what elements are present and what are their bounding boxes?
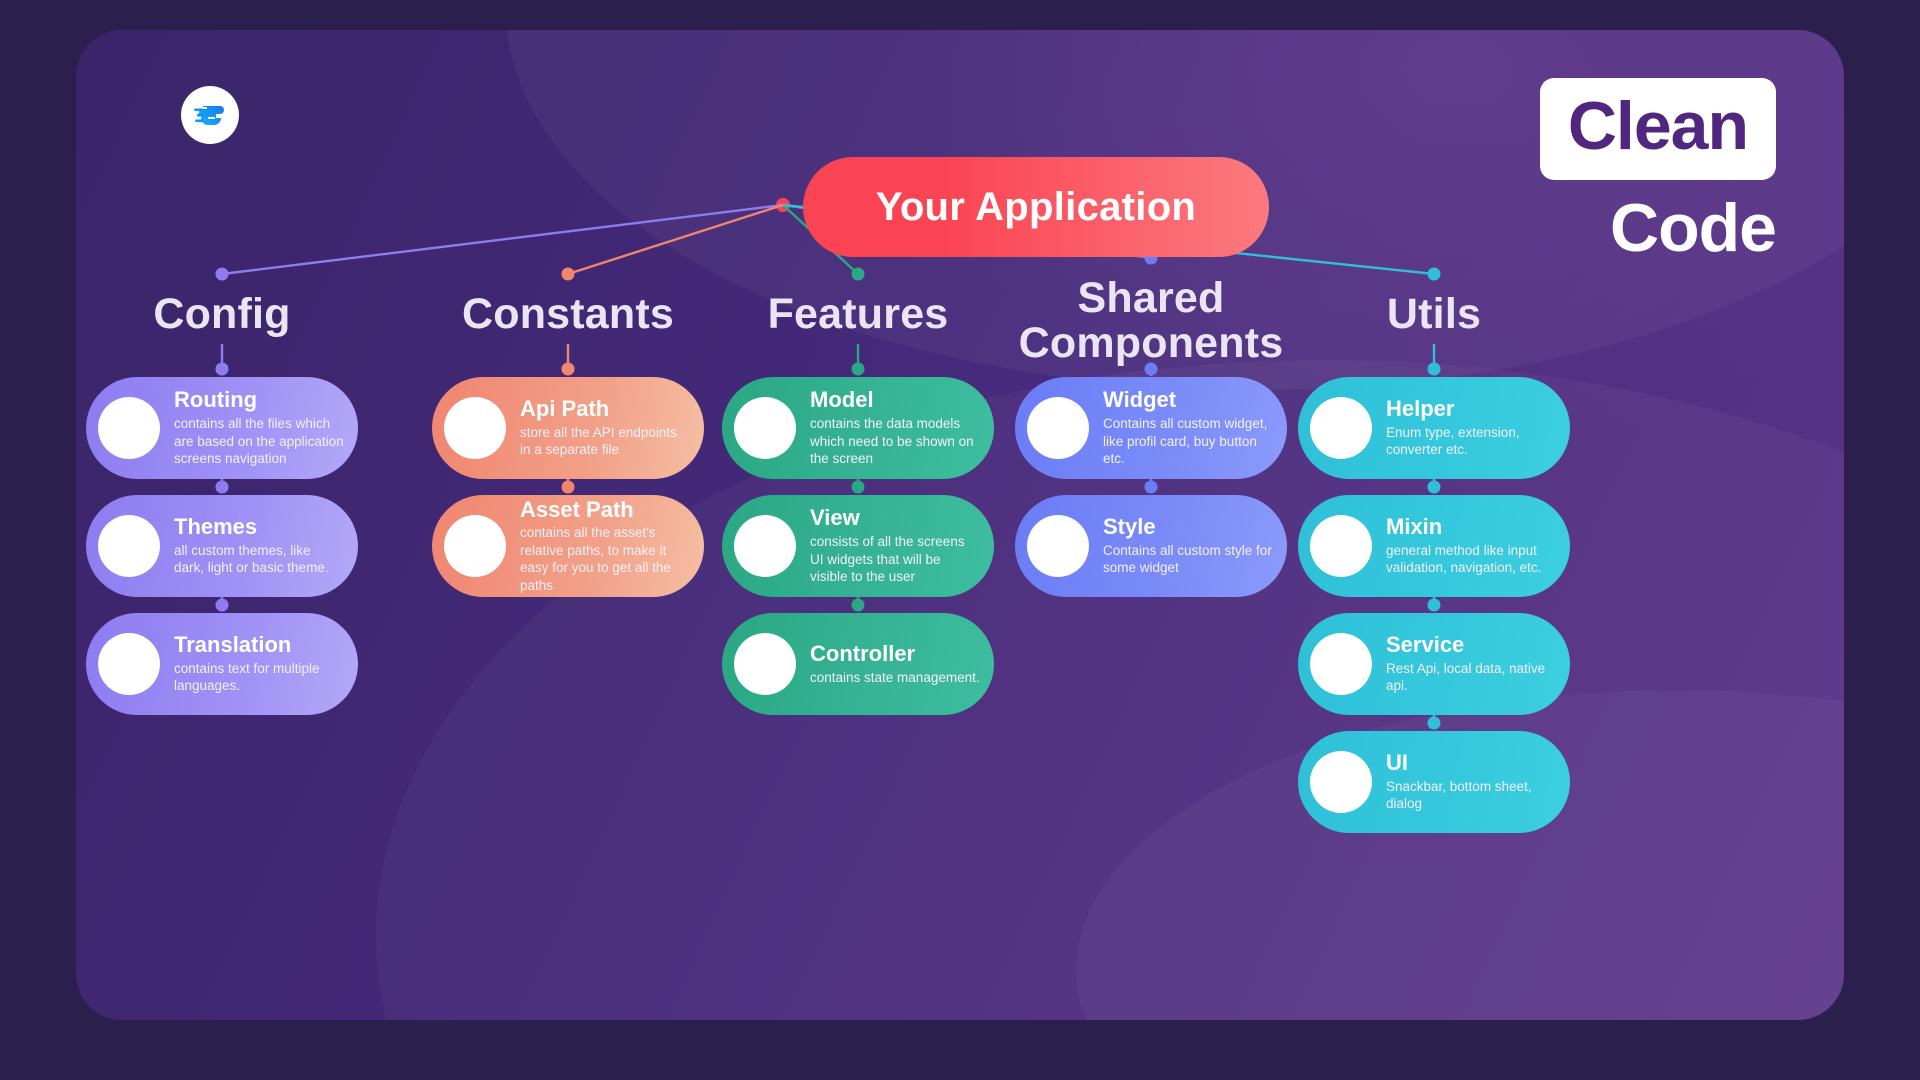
card-title: Helper [1386,397,1556,422]
connector-root-to-branch [568,205,783,274]
card-description: general method like input validation, na… [1386,542,1556,577]
card-bullet-icon [1310,397,1372,459]
card-title: Asset Path [520,498,690,523]
root-hub-dot [776,198,790,212]
card-bullet-icon [444,397,506,459]
card-ui[interactable]: UISnackbar, bottom sheet, dialog [1298,731,1570,833]
card-text-block: ServiceRest Api, local data, native api. [1372,633,1570,695]
card-text-block: Modelcontains the data models which need… [796,388,994,467]
card-bullet-icon [98,633,160,695]
card-title: Translation [174,633,344,658]
card-anchor-dot [216,599,229,612]
card-bullet-icon [1310,515,1372,577]
card-anchor-dot [1428,481,1441,494]
card-title: UI [1386,751,1556,776]
card-service[interactable]: ServiceRest Api, local data, native api. [1298,613,1570,715]
card-anchor-dot [1145,481,1158,494]
card-helper[interactable]: HelperEnum type, extension, converter et… [1298,377,1570,479]
card-asset-path[interactable]: Asset Pathcontains all the asset's relat… [432,495,704,597]
card-text-block: Api Pathstore all the API endpoints in a… [506,397,704,459]
brand-code-label: Code [1540,194,1776,262]
card-title: Model [810,388,980,413]
card-description: store all the API endpoints in a separat… [520,424,690,459]
card-title: Api Path [520,397,690,422]
card-title: Mixin [1386,515,1556,540]
card-title: Widget [1103,388,1273,413]
branch-title-shared-components: Shared Components [991,276,1311,366]
card-description: Contains all custom style for some widge… [1103,542,1273,577]
card-anchor-dot [1428,363,1441,376]
card-translation[interactable]: Translationcontains text for multiple la… [86,613,358,715]
branch-title-utils: Utils [1274,292,1594,337]
card-title: View [810,506,980,531]
card-title: Routing [174,388,344,413]
card-description: all custom themes, like dark, light or b… [174,542,344,577]
branch-title-constants: Constants [408,292,728,337]
card-anchor-dot [852,599,865,612]
card-anchor-dot [562,363,575,376]
poster-panel: Clean Code Your Application ConfigRoutin… [76,30,1844,1020]
card-description: contains text for multiple languages. [174,660,344,695]
card-anchor-dot [1428,599,1441,612]
card-description: contains all the files which are based o… [174,415,344,468]
branch-anchor-dot [216,268,229,281]
card-bullet-icon [734,633,796,695]
card-bullet-icon [1027,397,1089,459]
branch-anchor-dot [562,268,575,281]
card-description: Snackbar, bottom sheet, dialog [1386,778,1556,813]
card-model[interactable]: Modelcontains the data models which need… [722,377,994,479]
card-text-block: UISnackbar, bottom sheet, dialog [1372,751,1570,813]
card-text-block: Viewconsists of all the screens UI widge… [796,506,994,585]
card-themes[interactable]: Themesall custom themes, like dark, ligh… [86,495,358,597]
card-description: contains all the asset's relative paths,… [520,524,690,594]
card-bullet-icon [444,515,506,577]
root-node-your-application[interactable]: Your Application [803,157,1269,257]
branch-anchor-dot [852,268,865,281]
card-title: Style [1103,515,1273,540]
brand-block: Clean Code [1540,78,1776,262]
card-description: consists of all the screens UI widgets t… [810,533,980,586]
card-bullet-icon [98,397,160,459]
card-text-block: Mixingeneral method like input validatio… [1372,515,1570,577]
card-anchor-dot [852,363,865,376]
root-node-label: Your Application [876,185,1196,230]
card-text-block: WidgetContains all custom widget, like p… [1089,388,1287,467]
card-bullet-icon [734,515,796,577]
card-anchor-dot [216,481,229,494]
card-bullet-icon [98,515,160,577]
card-title: Themes [174,515,344,540]
card-mixin[interactable]: Mixingeneral method like input validatio… [1298,495,1570,597]
card-anchor-dot [852,481,865,494]
card-view[interactable]: Viewconsists of all the screens UI widge… [722,495,994,597]
card-title: Controller [810,642,980,667]
card-bullet-icon [734,397,796,459]
card-text-block: HelperEnum type, extension, converter et… [1372,397,1570,459]
card-description: contains state management. [810,669,980,687]
card-widget[interactable]: WidgetContains all custom widget, like p… [1015,377,1287,479]
card-anchor-dot [216,363,229,376]
card-text-block: Translationcontains text for multiple la… [160,633,358,695]
card-description: Contains all custom widget, like profil … [1103,415,1273,468]
card-style[interactable]: StyleContains all custom style for some … [1015,495,1287,597]
card-anchor-dot [562,481,575,494]
card-bullet-icon [1310,633,1372,695]
speed-g-logo-icon [181,86,239,144]
branch-title-features: Features [698,292,1018,337]
card-routing[interactable]: Routingcontains all the files which are … [86,377,358,479]
branch-anchor-dot [1428,268,1441,281]
card-description: Rest Api, local data, native api. [1386,660,1556,695]
card-description: Enum type, extension, converter etc. [1386,424,1556,459]
card-title: Service [1386,633,1556,658]
card-description: contains the data models which need to b… [810,415,980,468]
connector-root-to-branch [222,205,783,274]
card-controller[interactable]: Controllercontains state management. [722,613,994,715]
brand-clean-badge: Clean [1540,78,1776,180]
branch-title-config: Config [76,292,382,337]
card-text-block: Asset Pathcontains all the asset's relat… [506,498,704,595]
card-text-block: Themesall custom themes, like dark, ligh… [160,515,358,577]
card-bullet-icon [1310,751,1372,813]
card-api-path[interactable]: Api Pathstore all the API endpoints in a… [432,377,704,479]
card-anchor-dot [1428,717,1441,730]
card-text-block: Controllercontains state management. [796,642,994,686]
card-text-block: StyleContains all custom style for some … [1089,515,1287,577]
card-text-block: Routingcontains all the files which are … [160,388,358,467]
card-bullet-icon [1027,515,1089,577]
poster-frame: Clean Code Your Application ConfigRoutin… [0,0,1920,1080]
